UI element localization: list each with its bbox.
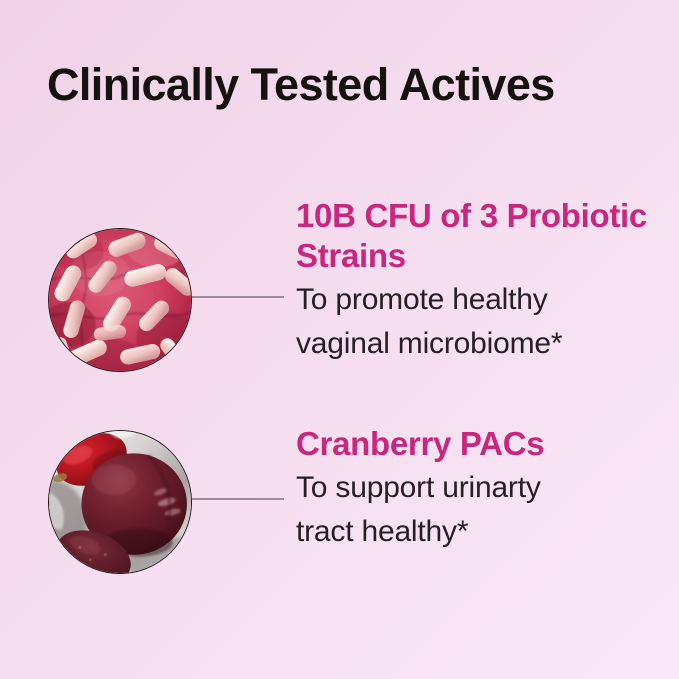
product-benefits-panel: Clinically Tested Actives [0,0,679,679]
cranberries-illustration [48,430,192,574]
feature-body-line-2: vaginal microbiome* [296,322,656,366]
feature-body: To support urinarty tract healthy* [296,464,656,554]
feature-heading: 10B CFU of 3 Probiotic Strains [296,196,656,276]
feature-heading-line-1: Cranberry PACs [296,425,544,462]
cranberries-photo-image [48,430,192,574]
feature-row: Cranberry PACs To support urinarty tract… [0,398,679,598]
feature-body-line-1: To support urinarty [296,466,656,510]
bacteria-illustration [48,228,192,372]
probiotic-bacteria-microscopy-image [48,228,192,372]
feature-body: To promote healthy vaginal microbiome* [296,276,656,366]
feature-text-block: Cranberry PACs To support urinarty tract… [296,424,656,554]
page-title: Clinically Tested Actives [47,59,647,111]
feature-heading: Cranberry PACs [296,424,656,464]
feature-row: 10B CFU of 3 Probiotic Strains To promot… [0,196,679,396]
feature-body-line-1: To promote healthy [296,278,656,322]
feature-body-line-2: tract healthy* [296,510,656,554]
connector-line [192,498,284,500]
connector-line [192,296,284,298]
feature-text-block: 10B CFU of 3 Probiotic Strains To promot… [296,196,656,366]
feature-heading-line-1: 10B CFU of 3 [296,197,498,234]
